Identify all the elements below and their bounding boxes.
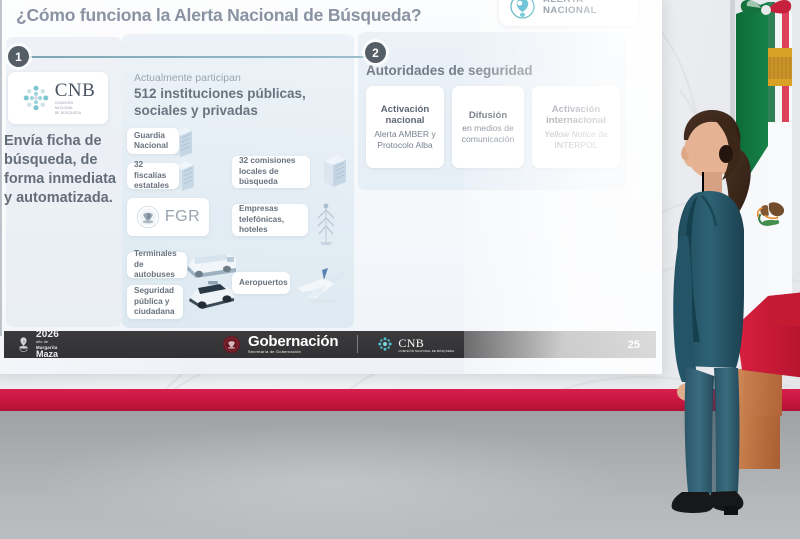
card-subtitle: Yellow Notice de INTERPOL: [537, 129, 615, 150]
card-title: Activación nacional: [371, 104, 439, 127]
chip-label: 32 fiscalías estatales: [134, 160, 172, 192]
chip-comisiones-locales: 32 comisiones locales de búsqueda: [232, 156, 310, 188]
page-title: ¿Cómo funciona la Alerta Nacional de Bús…: [16, 5, 421, 26]
middle-kicker: Actualmente participan: [134, 72, 241, 84]
chip-terminales-autobuses: Terminales de autobuses: [127, 252, 187, 278]
cnb-logo-icon: [377, 336, 393, 352]
right-column-headline: Autoridades de seguridad: [366, 63, 533, 78]
flag-ribbon-bow: [735, 0, 797, 28]
card-activacion-nacional: Activación nacional Alerta AMBER y Proto…: [366, 86, 444, 168]
footer-year: 2026: [36, 330, 59, 340]
card-subtitle-italic: Yellow Notice: [544, 129, 596, 139]
cnb-name-l1: COMISIÓN: [55, 102, 96, 105]
left-column-blurb: Envía ficha de búsqueda, de forma inmedi…: [4, 132, 126, 209]
projection-screen: ¿Cómo funciona la Alerta Nacional de Bús…: [0, 0, 662, 374]
card-title: Activación internacional: [537, 104, 615, 127]
chip-guardia-nacional: Guardia Nacional: [127, 128, 179, 154]
step-badge-1: 1: [8, 46, 29, 67]
middle-headline: 512 instituciones públicas, sociales y p…: [134, 85, 334, 120]
screen-left-edge: [0, 0, 2, 336]
alerta-nacional-icon: [509, 0, 536, 20]
cnb-name-l2: NACIONAL: [55, 107, 96, 110]
page-number: 25: [628, 339, 656, 351]
step-badge-2: 2: [365, 42, 386, 63]
connector-line: [26, 56, 372, 58]
footer-year-surname: Maza: [36, 350, 59, 359]
alerta-line2: NACIONAL: [543, 6, 597, 17]
footer-divider: [357, 335, 358, 353]
cnb-name-l3: DE BÚSQUEDA: [55, 112, 96, 115]
chip-label: Terminales de autobuses: [134, 249, 180, 281]
footer-gobernacion: Gobernación Secretaría de Gobernación: [222, 334, 454, 355]
gobernacion-seal-icon: [222, 335, 241, 354]
card-title: Difusión: [469, 110, 507, 122]
chip-label: Seguridad pública y ciudadana: [134, 286, 176, 318]
chip-label: Aeropuertos: [239, 278, 288, 289]
footer-cnb-sub: COMISIÓN NACIONAL DE BÚSQUEDA: [398, 350, 454, 353]
alerta-nacional-logo-card: ALERTA NACIONAL: [499, 0, 639, 26]
card-activacion-internacional: Activación internacional Yellow Notice d…: [532, 86, 620, 168]
chip-fgr: FGR: [127, 198, 209, 236]
speaker-figure: [650, 110, 780, 525]
fgr-acronym: FGR: [165, 207, 200, 227]
gobernacion-title: Gobernación: [248, 334, 338, 349]
chip-fiscalias-estatales: 32 fiscalías estatales: [127, 163, 179, 189]
cnb-logo-icon: [21, 83, 51, 113]
card-difusion: Difusión en medios de comunicación: [452, 86, 524, 168]
chip-label: 32 comisiones locales de búsqueda: [239, 156, 303, 188]
fgr-seal-icon: [136, 205, 160, 229]
cnb-logo-card: CNB COMISIÓN NACIONAL DE BÚSQUEDA: [8, 72, 108, 124]
chip-aeropuertos: Aeropuertos: [232, 272, 290, 294]
gobernacion-subtitle: Secretaría de Gobernación: [248, 351, 338, 355]
cnb-acronym: CNB: [55, 81, 96, 100]
eagle-emblem-icon: [16, 336, 31, 353]
presentation-slide: ¿Cómo funciona la Alerta Nacional de Bús…: [0, 0, 655, 370]
slide-footer: 2026 año de Margarita Maza: [4, 331, 656, 358]
card-subtitle: en medios de comunicación: [457, 123, 519, 144]
chip-label: Empresas telefónicas, hoteles: [239, 204, 301, 236]
chip-empresas-telefonicas: Empresas telefónicas, hoteles: [232, 204, 308, 236]
card-subtitle: Alerta AMBER y Protocolo Alba: [371, 129, 439, 150]
footer-cnb-logo: CNB COMISIÓN NACIONAL DE BÚSQUEDA: [377, 336, 454, 352]
footer-cnb-acronym: CNB: [398, 337, 454, 349]
chip-label: Guardia Nacional: [134, 131, 172, 152]
footer-year-badge: 2026 año de Margarita Maza: [4, 330, 214, 359]
chip-seguridad-publica: Seguridad pública y ciudadana: [127, 285, 183, 319]
screenshot-root: ¿Cómo funciona la Alerta Nacional de Bús…: [0, 0, 800, 539]
